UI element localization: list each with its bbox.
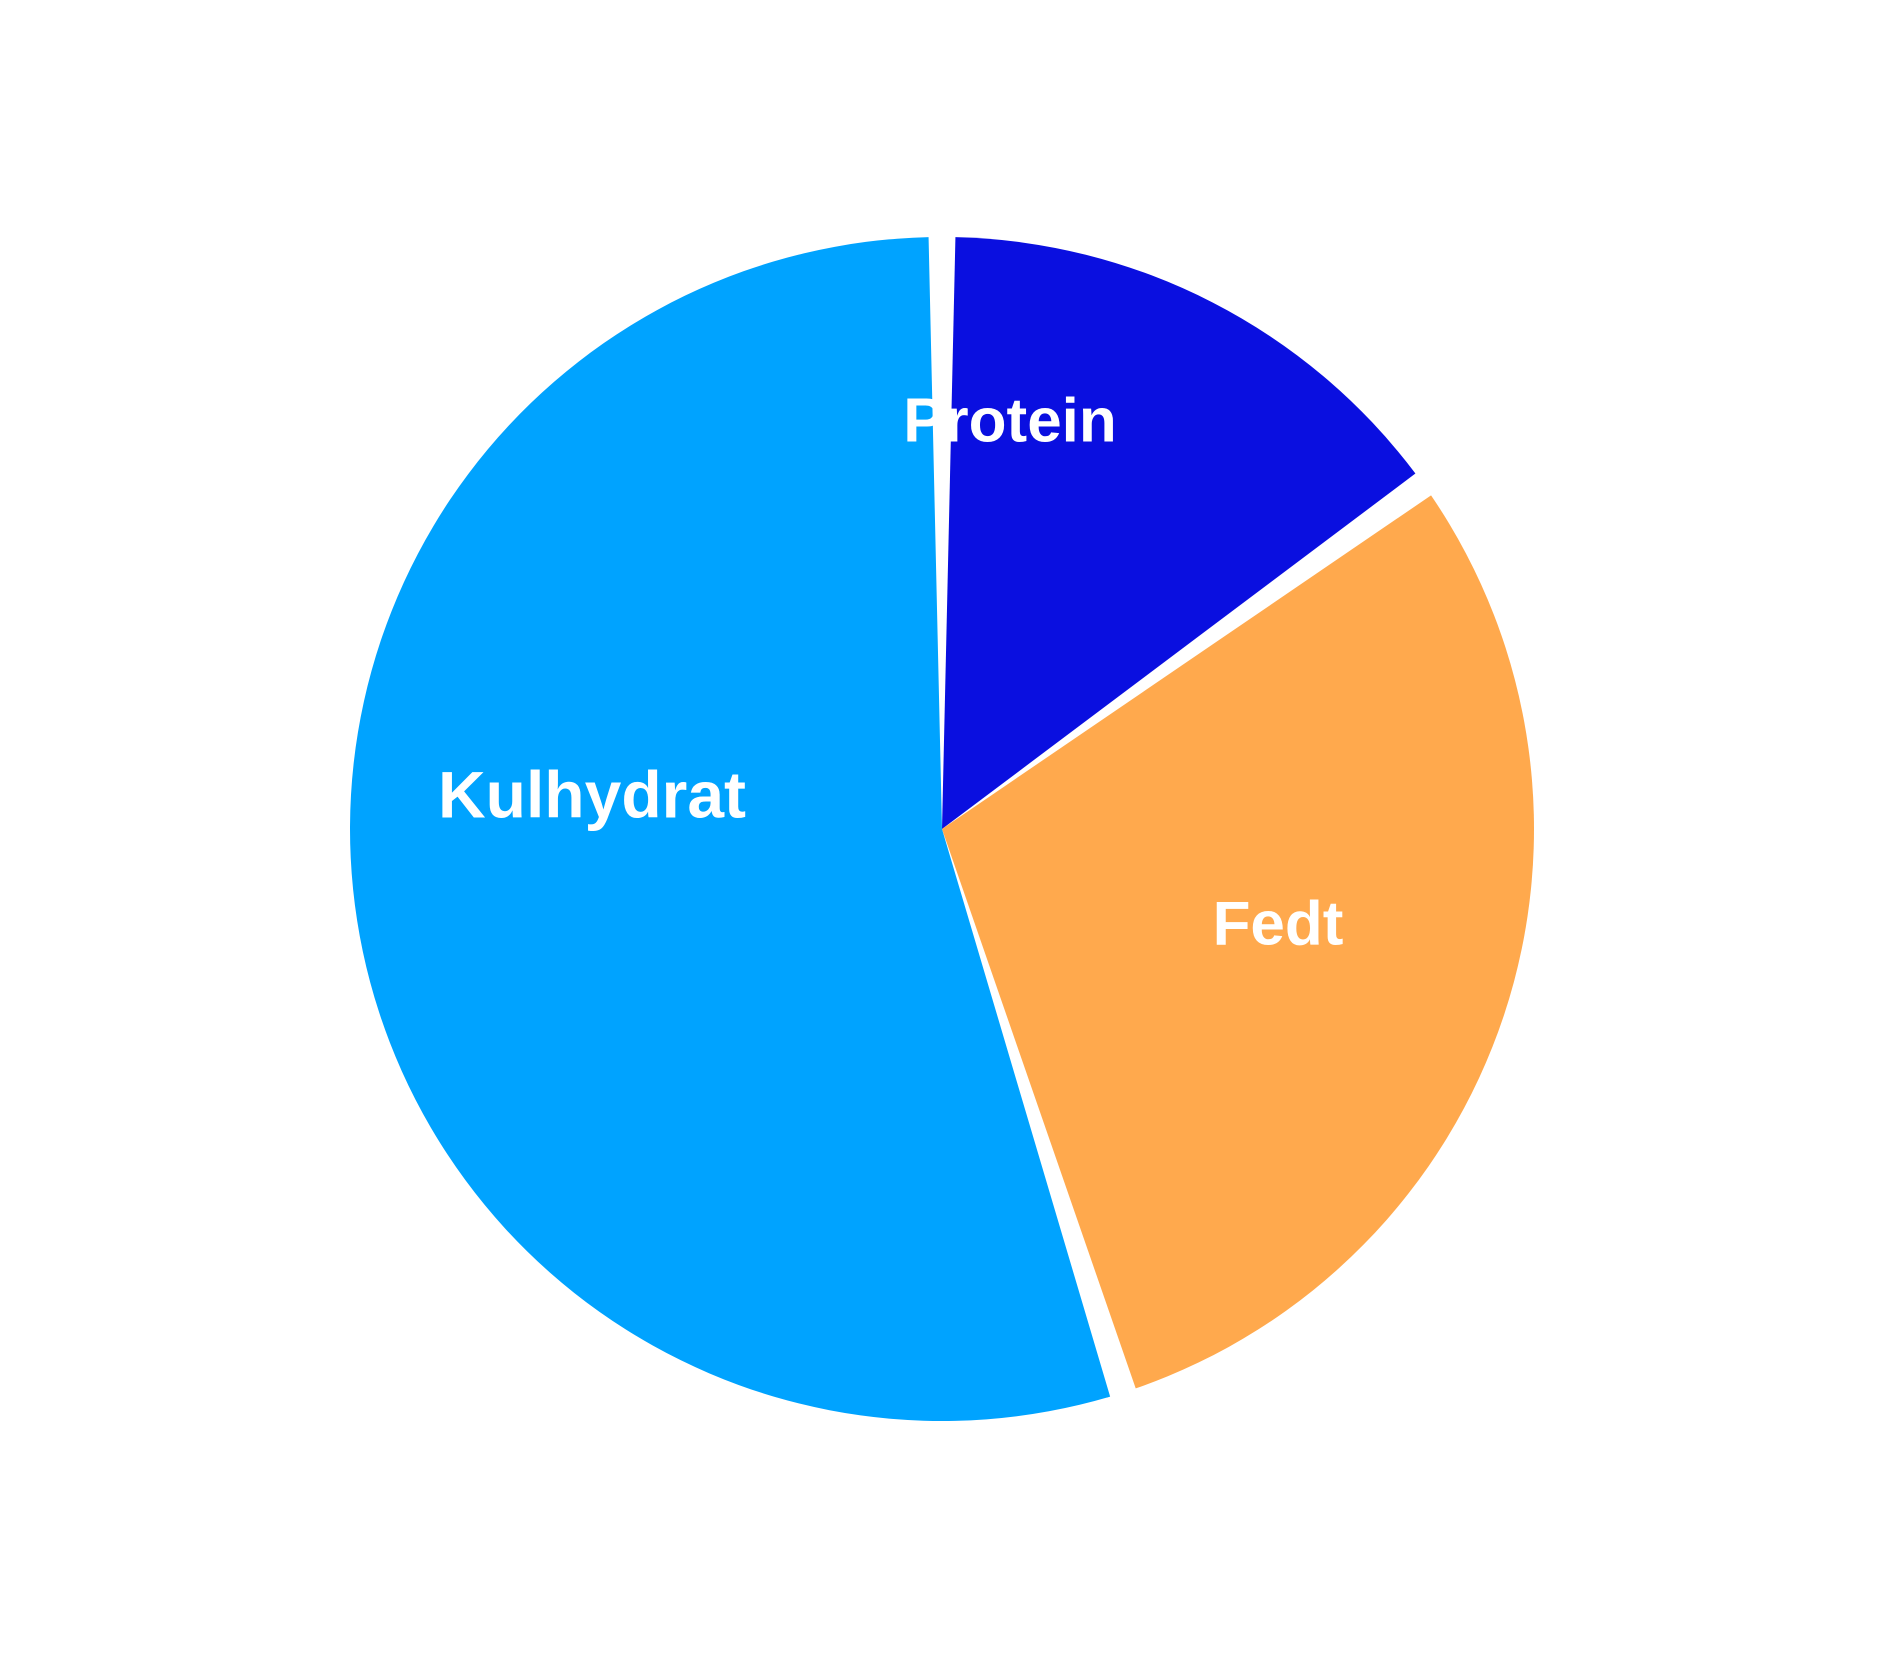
- pie-label-kulhydrat: Kulhydrat: [438, 757, 746, 831]
- pie-chart-container: Protein Fedt Kulhydrat: [0, 0, 1889, 1654]
- pie-label-fedt: Fedt: [1213, 889, 1344, 958]
- pie-label-protein: Protein: [903, 386, 1117, 455]
- pie-chart: Protein Fedt Kulhydrat: [0, 0, 1889, 1654]
